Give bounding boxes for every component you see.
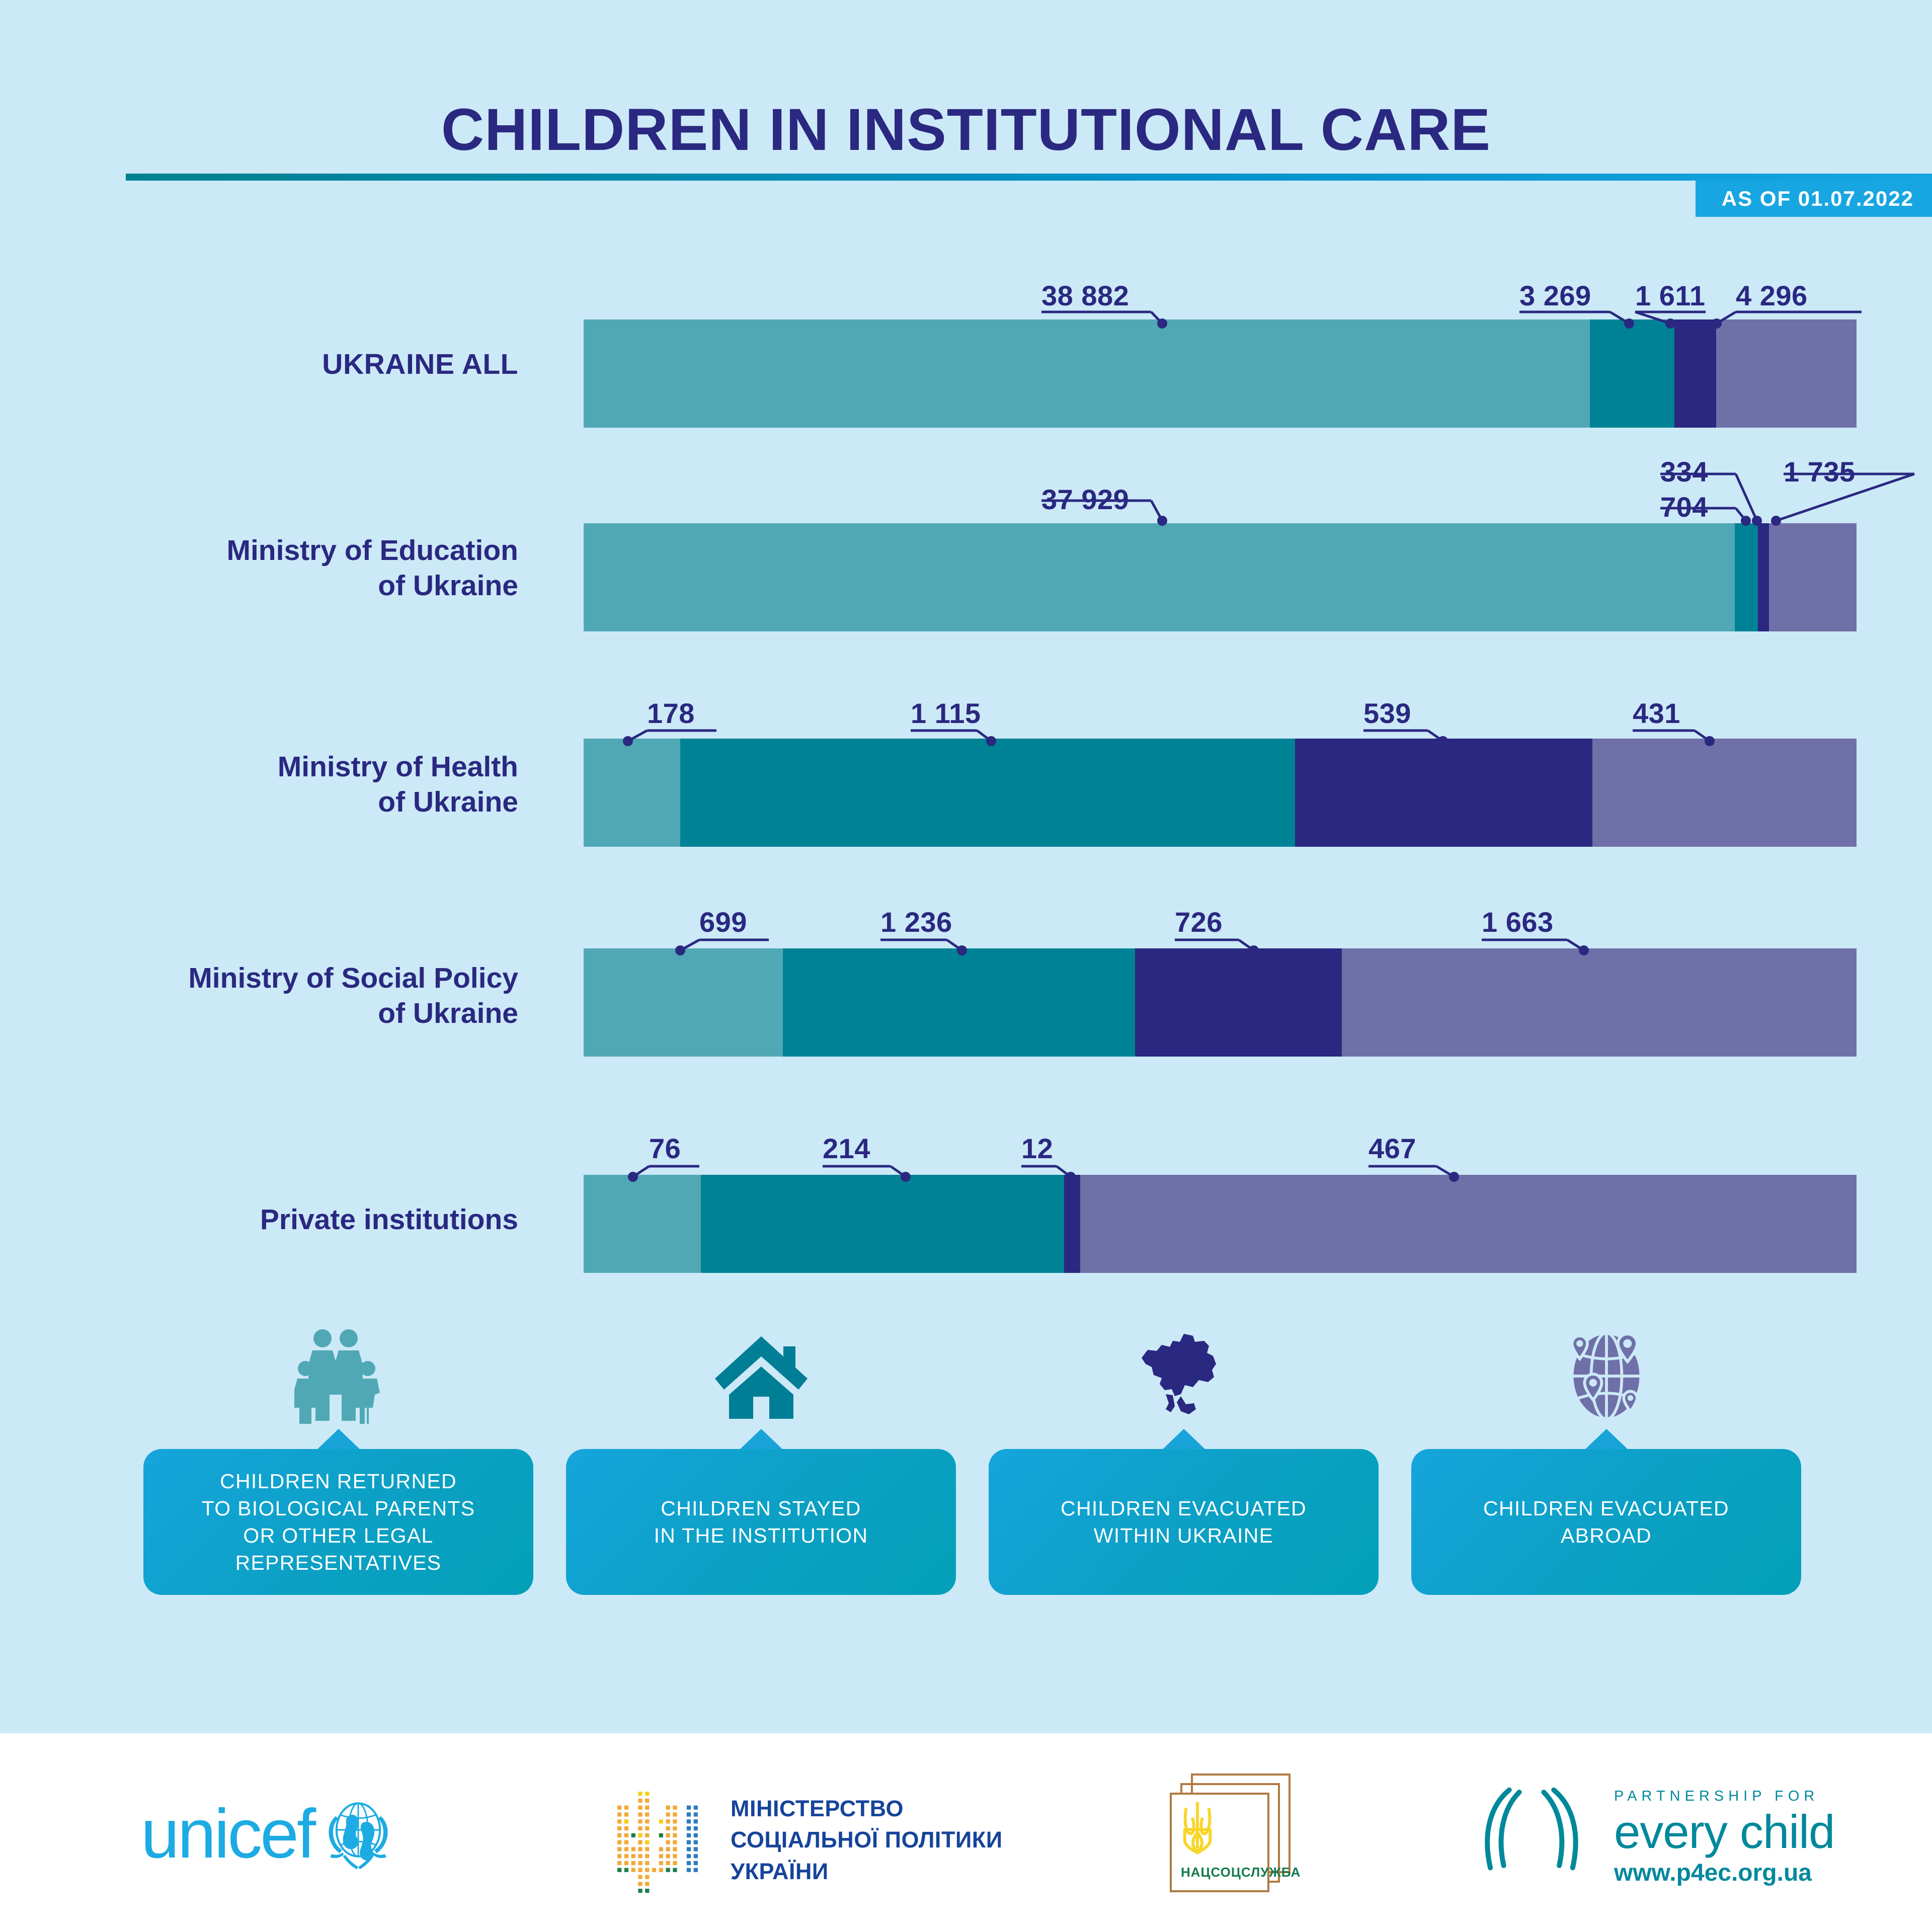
legend-label-returned: CHILDREN RETURNED TO BIOLOGICAL PARENTS … [143,1449,533,1595]
segment-stayed [680,739,1295,847]
globe-pins-icon [1556,1328,1657,1424]
infographic-page: CHILDREN IN INSTITUTIONAL CARE AS OF 01.… [0,0,1932,1932]
ministry-social-policy-logo[interactable]: МІНІСТЕРСТВО СОЦІАЛЬНОЇ ПОЛІТИКИ УКРАЇНИ [611,1786,1003,1894]
leader-lines-row4 [0,894,1932,959]
segment-abroad [1769,523,1857,631]
chart-legend: CHILDREN RETURNED TO BIOLOGICAL PARENTS … [0,1328,1932,1640]
segment-stayed [783,948,1135,1057]
segment-returned [584,319,1590,428]
as-of-badge: AS OF 01.07.2022 [1696,181,1932,217]
p4ec-tagline: PARTNERSHIP FOR [1614,1788,1834,1805]
segment-within [1295,739,1592,847]
bar-private-institutions [584,1175,1857,1273]
leader-lines-row3 [0,684,1932,750]
legend-label-within-ukraine: CHILDREN EVACUATED WITHIN UKRAINE [989,1449,1379,1595]
ministry-social-policy-text: МІНІСТЕРСТВО СОЦІАЛЬНОЇ ПОЛІТИКИ УКРАЇНИ [731,1793,1003,1887]
trident-icon [1181,1800,1214,1855]
row-label-ministry-health: Ministry of Health of Ukraine [50,750,518,820]
segment-stayed [1735,523,1758,631]
segment-abroad [1080,1175,1857,1273]
segment-returned [584,739,680,847]
legend-pointer [1161,1429,1207,1451]
segment-within [1674,319,1716,428]
legend-label-stayed: CHILDREN STAYED IN THE INSTITUTION [566,1449,956,1595]
segment-stayed [701,1175,1064,1273]
bar-ministry-social-policy [584,948,1857,1057]
legend-pointer [738,1429,784,1451]
natsocsluzhba-logo[interactable]: НАЦСОЦСЛУЖБА [1170,1774,1301,1889]
bar-ukraine-all [584,319,1857,428]
leader-lines-row5 [0,1120,1932,1185]
row-label-ukraine-all: UKRAINE ALL [50,347,518,382]
segment-abroad [1592,739,1857,847]
segment-returned [584,948,783,1057]
row-label-ministry-social-policy: Ministry of Social Policy of Ukraine [50,961,518,1031]
page-title: CHILDREN IN INSTITUTIONAL CARE [0,96,1932,164]
house-icon [711,1328,812,1424]
family-icon [288,1328,389,1424]
unicef-logo[interactable]: unicef [141,1794,398,1874]
segment-within [1135,948,1342,1057]
row-label-private-institutions: Private institutions [50,1202,518,1238]
legend-pointer [315,1429,362,1451]
bar-ministry-health [584,739,1857,847]
p4ec-name: every child [1614,1805,1834,1859]
segment-stayed [1590,319,1674,428]
natsocsluzhba-text: НАЦСОЦСЛУЖБА [1181,1865,1301,1880]
segment-within [1064,1175,1080,1273]
title-divider [126,174,1932,181]
legend-pointer [1583,1429,1630,1451]
footer-logos: unicef [0,1733,1932,1932]
segment-returned [584,523,1735,631]
frame-square-front: НАЦСОЦСЛУЖБА [1170,1793,1269,1892]
leader-lines-row2 [0,443,1932,533]
dotted-trident-icon [611,1786,709,1894]
unicef-emblem-icon [318,1794,398,1874]
segment-within [1758,523,1769,631]
ukraine-map-icon [1134,1328,1234,1424]
segment-abroad [1716,319,1857,428]
row-label-ministry-education: Ministry of Education of Ukraine [50,533,518,603]
p4ec-logo[interactable]: PARTNERSHIP FOR every child www.p4ec.org… [1469,1781,1834,1887]
segment-abroad [1342,948,1857,1057]
p4ec-brackets-icon [1469,1781,1605,1887]
leader-lines-row1 [0,267,1932,332]
legend-label-abroad: CHILDREN EVACUATED ABROAD [1411,1449,1801,1595]
unicef-wordmark: unicef [141,1794,314,1874]
bar-ministry-education [584,523,1857,631]
p4ec-url: www.p4ec.org.ua [1614,1859,1834,1887]
segment-returned [584,1175,701,1273]
